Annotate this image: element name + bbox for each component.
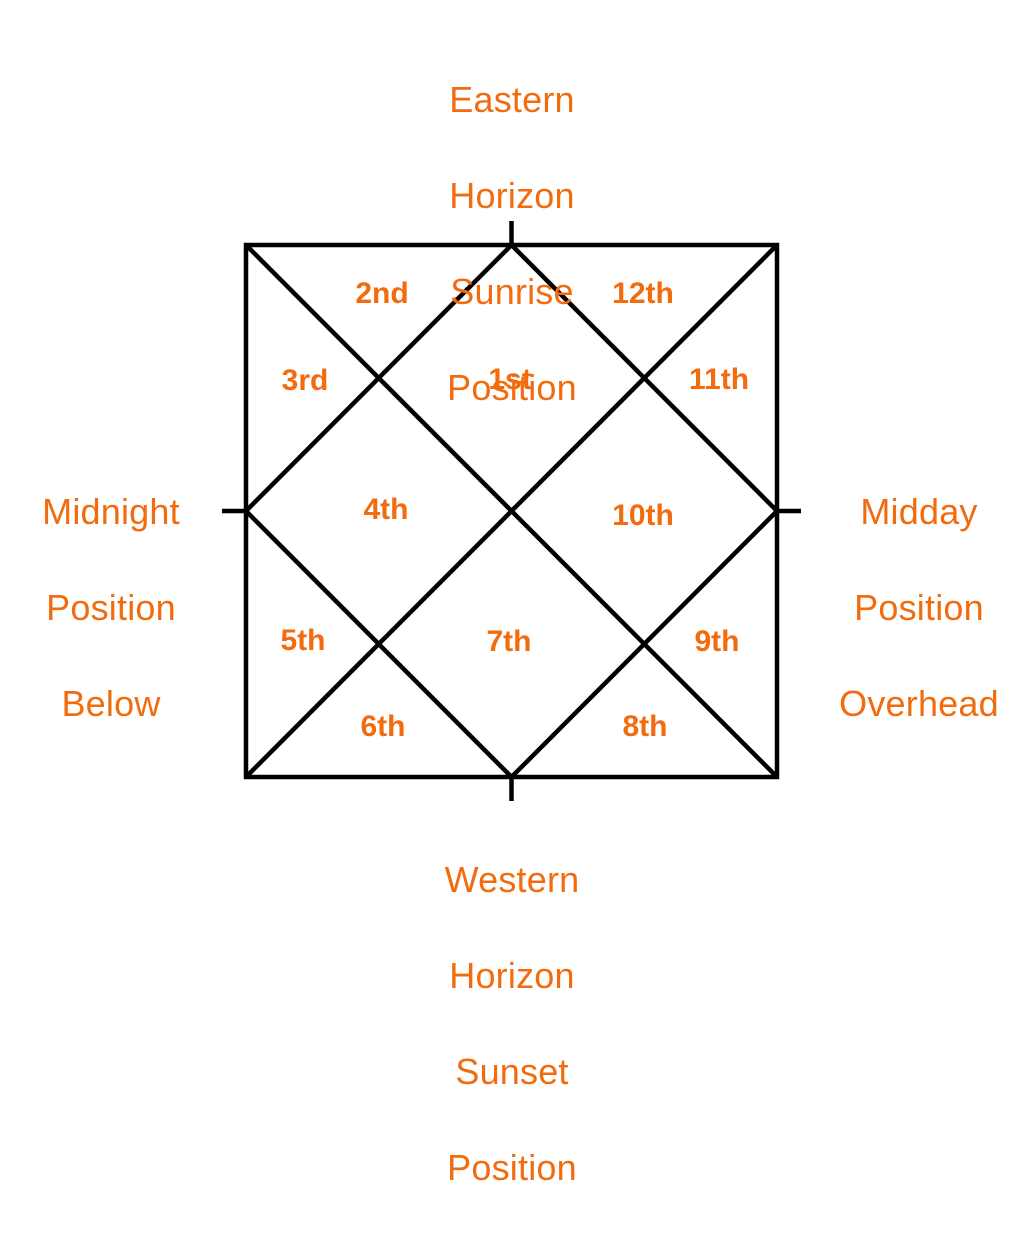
western-horizon-label-line-1: Western (312, 856, 712, 904)
house-label-3: 3rd (282, 366, 329, 396)
midday-position-label-line-1: Midday (816, 488, 1022, 536)
midnight-position-label-line-1: Midnight (8, 488, 214, 536)
midday-position-label-line-3: Overhead (816, 680, 1022, 728)
house-label-8: 8th (623, 712, 668, 742)
house-label-1: 1st (488, 365, 531, 395)
diagram-canvas: Eastern Horizon Sunrise Position Western… (0, 0, 1024, 1024)
house-label-10: 10th (612, 501, 674, 531)
house-label-6: 6th (361, 712, 406, 742)
western-horizon-label-line-2: Horizon (312, 952, 712, 1000)
western-horizon-label-line-3: Sunset (312, 1048, 712, 1096)
midday-position-label: Midday Position Overhead (816, 440, 1022, 776)
house-label-7: 7th (487, 627, 532, 657)
midnight-position-label: Midnight Position Below (8, 440, 214, 776)
house-label-11: 11th (689, 365, 749, 395)
house-label-4: 4th (364, 495, 409, 525)
house-label-9: 9th (695, 627, 740, 657)
western-horizon-label: Western Horizon Sunset Position (312, 808, 712, 1240)
house-label-2: 2nd (355, 279, 408, 309)
house-label-12: 12th (612, 279, 674, 309)
midday-position-label-line-2: Position (816, 584, 1022, 632)
house-label-5: 5th (281, 626, 326, 656)
eastern-horizon-label-line-2: Horizon (312, 172, 712, 220)
western-horizon-label-line-4: Position (312, 1144, 712, 1192)
midnight-position-label-line-3: Below (8, 680, 214, 728)
eastern-horizon-label-line-1: Eastern (312, 76, 712, 124)
midnight-position-label-line-2: Position (8, 584, 214, 632)
